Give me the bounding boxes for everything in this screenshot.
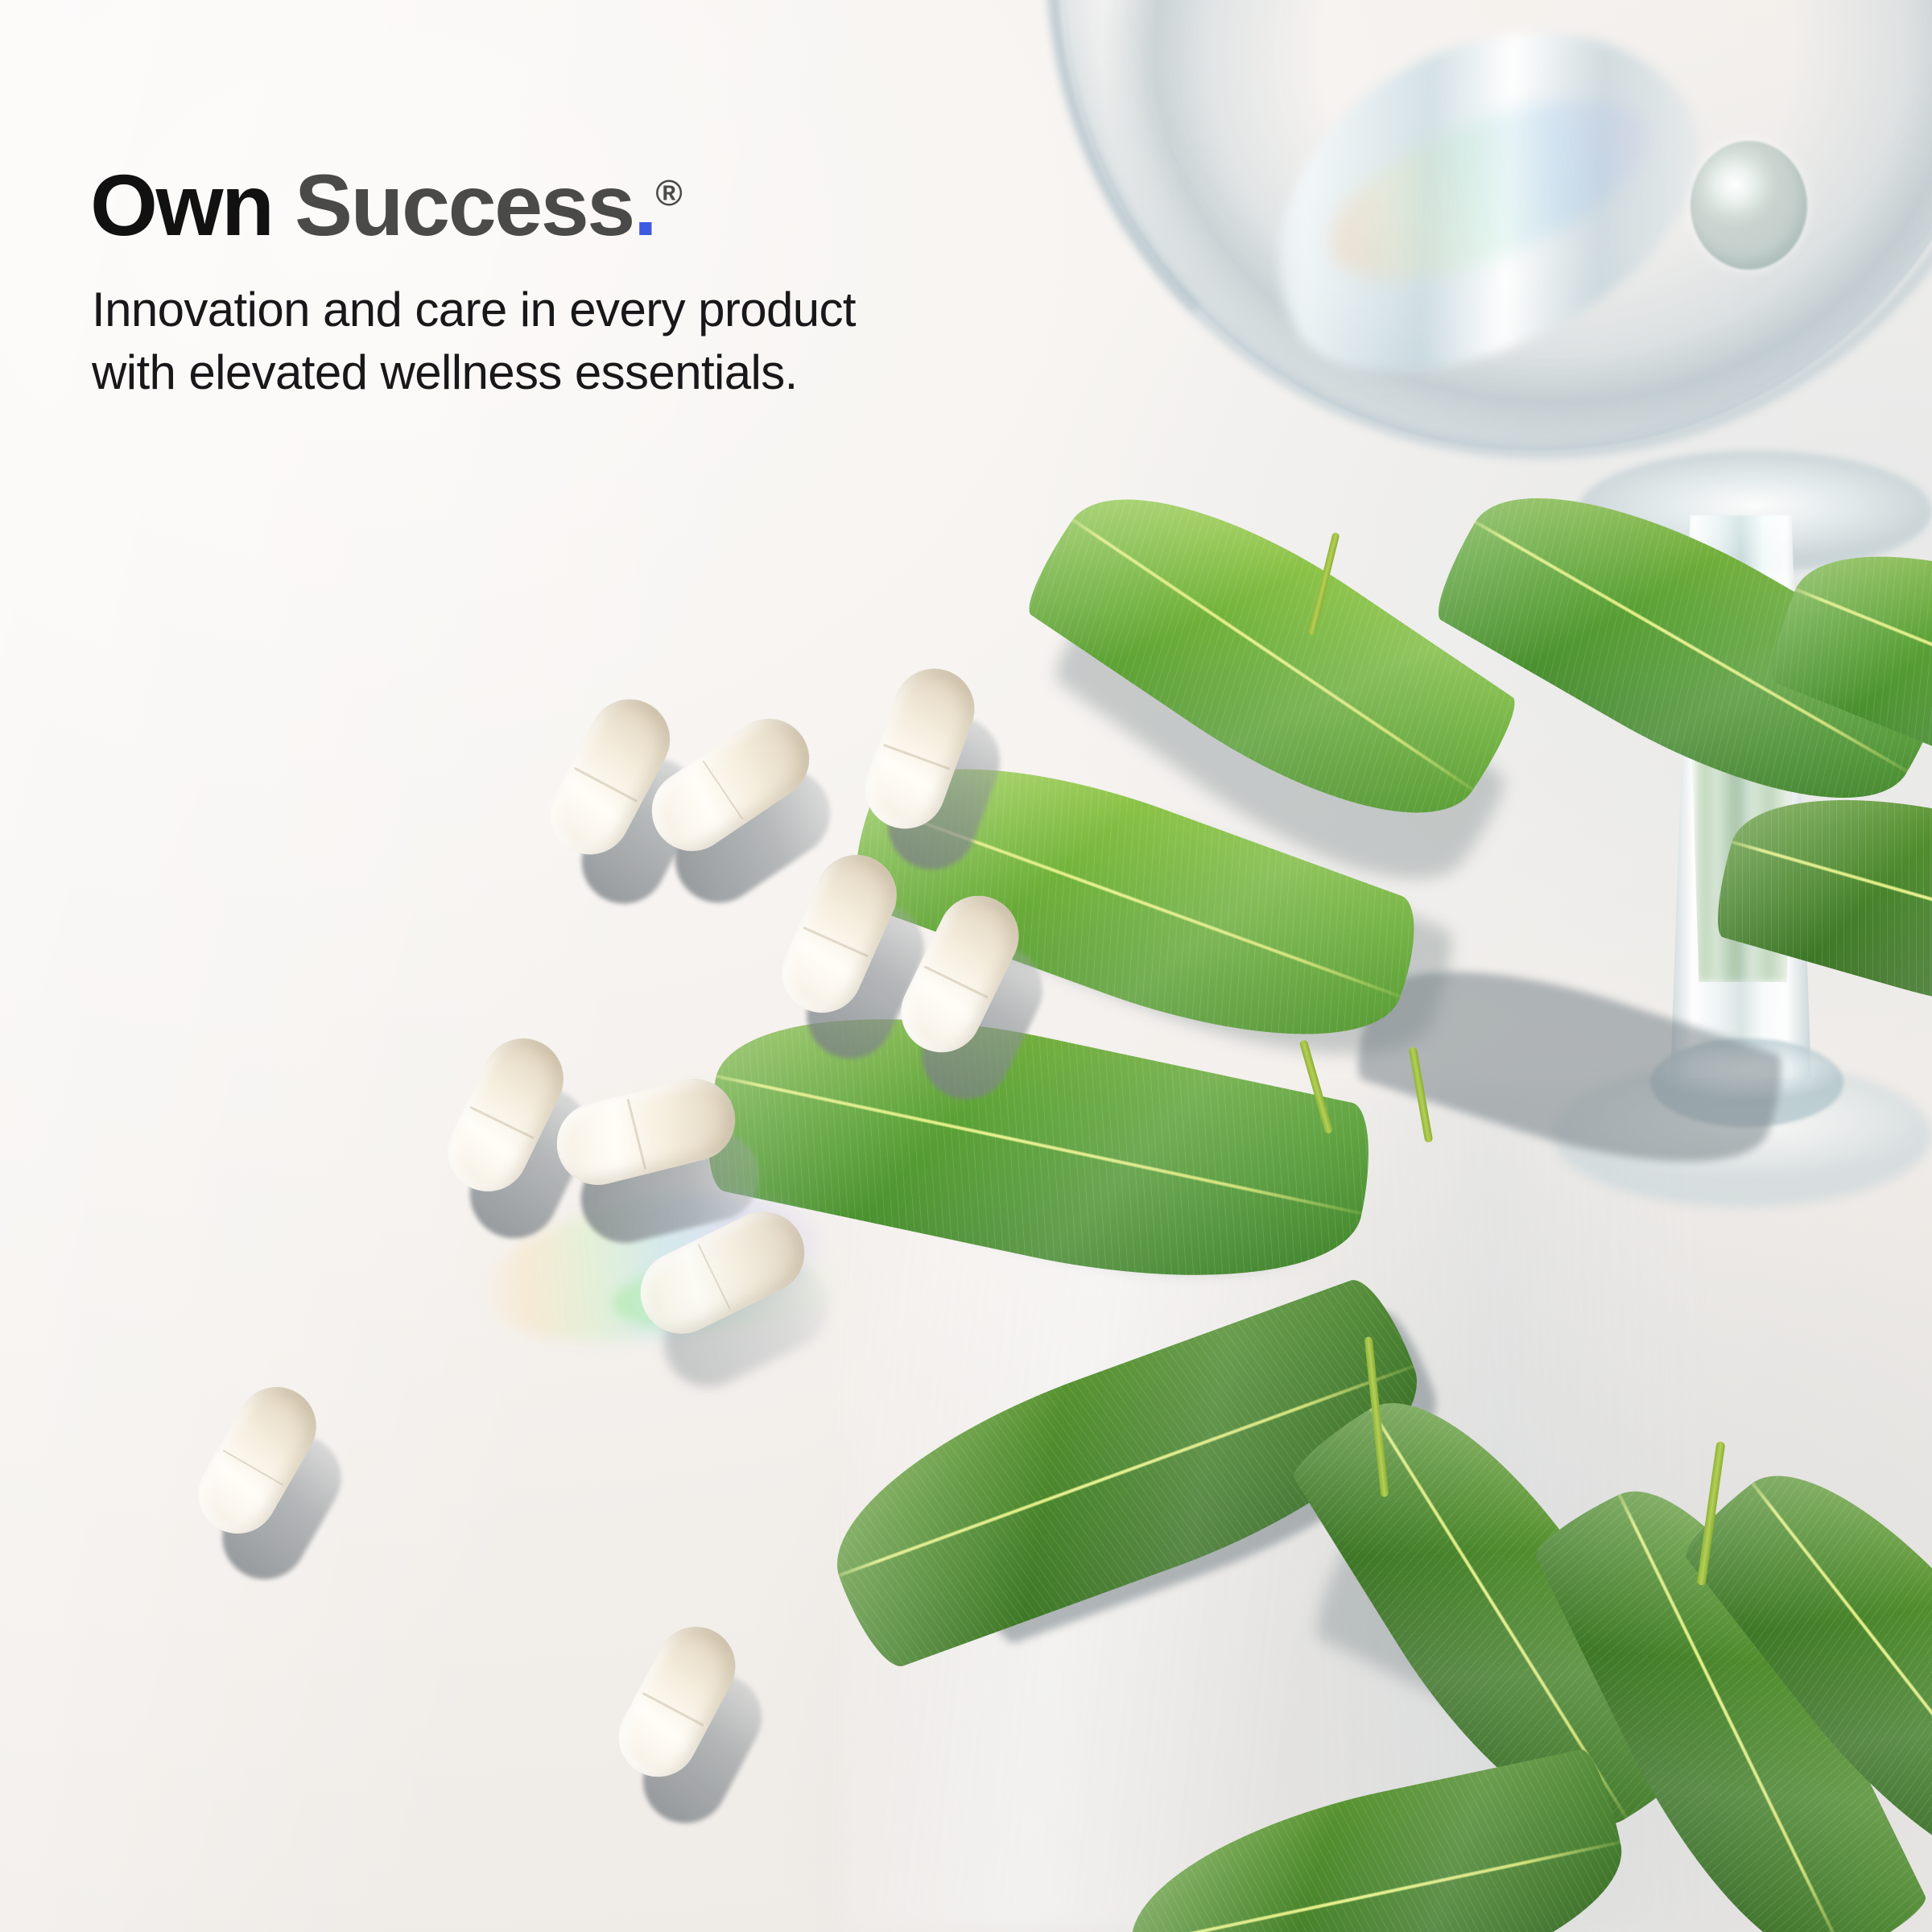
registered-trademark-icon: ® xyxy=(655,172,682,213)
headline-word-own: Own xyxy=(90,156,272,254)
text-block: Own Success.® Innovation and care in eve… xyxy=(90,159,856,404)
headline-word-success: Success xyxy=(295,156,634,254)
glass-bubble xyxy=(1690,141,1807,270)
page-title: Own Success.® xyxy=(90,159,856,251)
promo-banner: Own Success.® Innovation and care in eve… xyxy=(0,0,1932,1932)
page-subtitle: Innovation and care in every product wit… xyxy=(92,279,856,404)
subtitle-line-1: Innovation and care in every product xyxy=(92,279,856,341)
subtitle-line-2: with elevated wellness essentials. xyxy=(92,341,856,404)
headline-accent-dot: . xyxy=(634,156,656,254)
